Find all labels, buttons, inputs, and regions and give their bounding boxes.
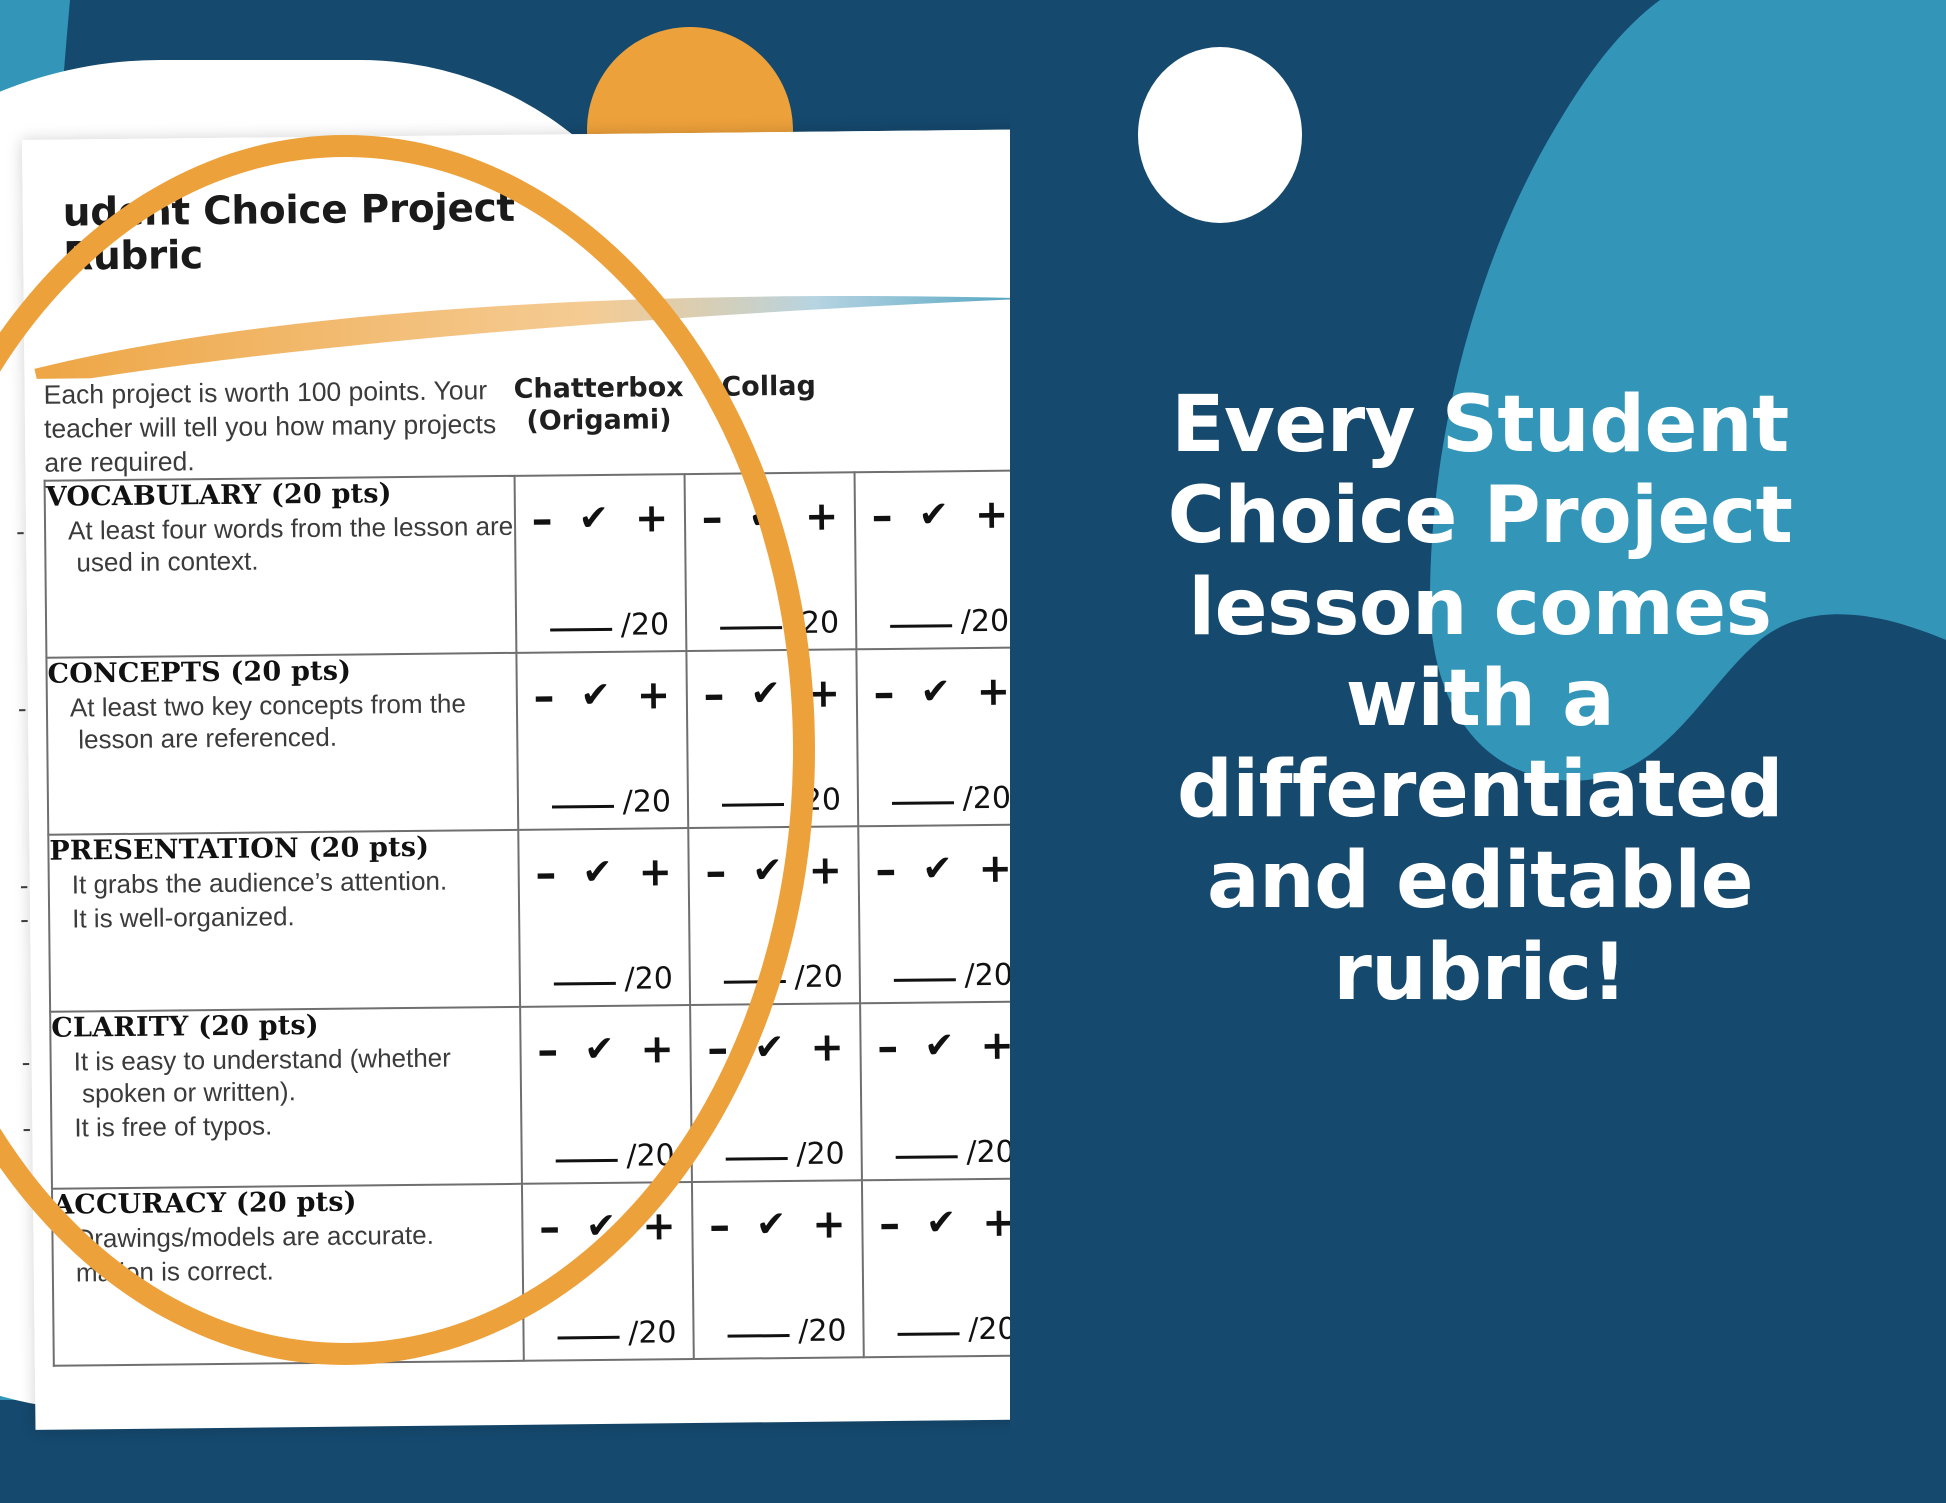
score-underline[interactable] (892, 802, 954, 806)
headline-line-2: Choice Project (1040, 471, 1920, 562)
column-header-chatterbox-line1: Chatterbox (513, 372, 683, 405)
plus-mark[interactable]: + (805, 502, 839, 530)
criterion-title: VOCABULARY (20 pts) (46, 477, 514, 513)
criterion-title: CLARITY (20 pts) (51, 1008, 519, 1044)
score-blank[interactable]: /20 (727, 1314, 847, 1350)
plus-mark[interactable]: + (980, 1031, 1010, 1059)
table-row: CONCEPTS (20 pts) -At least two key conc… (46, 648, 1010, 835)
score-cell-accuracy-collage[interactable]: – ✔ + /20 (692, 1181, 864, 1360)
bullet-dash: - (46, 516, 68, 548)
score-cell-concepts-collage[interactable]: – ✔ + /20 (686, 650, 858, 829)
list-item: -At least four words from the lesson are… (46, 511, 515, 579)
promo-headline: Every Student Choice Project lesson come… (1040, 380, 1920, 1019)
headline-line-4: with a (1040, 654, 1920, 745)
criterion-bullets: -At least two key concepts from the less… (48, 688, 517, 756)
rubric-document: udent Choice Project Rubric Each project… (22, 129, 1010, 1367)
score-underline[interactable] (727, 1334, 789, 1338)
score-suffix: /20 (792, 783, 841, 819)
criterion-bullets: -At least four words from the lesson are… (46, 511, 515, 579)
score-blank[interactable]: /20 (725, 1137, 845, 1173)
column-header-chatterbox: Chatterbox (Origami) (513, 372, 684, 476)
score-cell-presentation-collage[interactable]: – ✔ + /20 (688, 827, 860, 1006)
plus-mark[interactable]: + (638, 858, 672, 886)
check-mark[interactable]: ✔ (578, 498, 609, 539)
score-blank[interactable]: /20 (895, 1135, 1010, 1171)
bullet-dash: - (50, 870, 72, 902)
score-underline[interactable] (897, 1333, 959, 1337)
score-underline[interactable] (894, 979, 956, 983)
score-blank[interactable]: /20 (893, 958, 1010, 994)
check-mark[interactable]: ✔ (748, 496, 779, 537)
score-underline[interactable] (895, 1156, 957, 1160)
column-header-collage: Collag (683, 371, 854, 475)
minus-mark[interactable]: – (532, 507, 553, 532)
score-blank[interactable]: /20 (557, 1315, 677, 1351)
rating-marks[interactable]: – ✔ + (693, 1182, 862, 1247)
document-title-line-1: udent Choice Project (63, 186, 515, 236)
rating-marks[interactable]: – ✔ + (523, 1183, 692, 1248)
check-mark[interactable]: ✔ (580, 675, 611, 716)
plus-mark[interactable]: + (807, 679, 841, 707)
plus-mark[interactable]: + (637, 681, 671, 709)
minus-mark[interactable]: – (539, 1215, 560, 1240)
rating-marks[interactable]: – ✔ + (856, 472, 1010, 537)
column-header-third (853, 369, 1010, 473)
criterion-title: CONCEPTS (20 pts) (47, 654, 515, 690)
rating-marks[interactable]: – ✔ + (689, 828, 858, 893)
score-cell-accuracy-third[interactable]: – ✔ + /20 (862, 1179, 1010, 1358)
minus-mark[interactable]: – (875, 857, 896, 882)
minus-mark[interactable]: – (872, 503, 893, 528)
check-mark[interactable]: ✔ (756, 1204, 787, 1245)
criterion-title: PRESENTATION (20 pts) (49, 831, 517, 867)
minus-mark[interactable]: – (702, 505, 723, 530)
title-swoosh (24, 273, 1010, 380)
list-item: -It is well-organized. (50, 899, 518, 936)
score-cell-vocabulary-chatterbox[interactable]: – ✔ + /20 (515, 474, 687, 653)
score-suffix: /20 (962, 781, 1010, 817)
rating-marks[interactable]: – ✔ + (691, 1005, 860, 1070)
minus-mark[interactable]: – (533, 684, 554, 709)
headline-line-3: lesson comes (1040, 563, 1920, 654)
score-cell-clarity-third[interactable]: – ✔ + /20 (860, 1002, 1010, 1181)
headline-line-6: and editable (1040, 836, 1920, 927)
criterion-cell-concepts: CONCEPTS (20 pts) -At least two key conc… (46, 653, 518, 835)
bullet-dash: - (48, 693, 70, 725)
score-blank[interactable]: /20 (891, 781, 1010, 817)
plus-mark[interactable]: + (642, 1212, 676, 1240)
plus-mark[interactable]: + (978, 854, 1010, 882)
plus-mark[interactable]: + (640, 1035, 674, 1063)
bullet-text: mation is correct. (76, 1255, 274, 1287)
rating-marks[interactable]: – ✔ + (686, 474, 855, 539)
score-suffix: /20 (798, 1314, 847, 1350)
headline-line-5: differentiated (1040, 745, 1920, 836)
rating-marks[interactable]: – ✔ + (516, 475, 685, 540)
score-suffix: /20 (626, 1138, 675, 1174)
check-mark[interactable]: ✔ (584, 1029, 615, 1070)
bullet-text: At least two key concepts from the lesso… (70, 689, 466, 755)
document-stage: udent Choice Project Rubric Each project… (0, 0, 1010, 1503)
criterion-cell-vocabulary: VOCABULARY (20 pts) -At least four words… (45, 476, 517, 658)
score-suffix: /20 (794, 960, 843, 996)
score-cell-clarity-chatterbox[interactable]: – ✔ + /20 (520, 1005, 692, 1184)
score-suffix: /20 (791, 606, 840, 642)
score-cell-vocabulary-third[interactable]: – ✔ + /20 (855, 471, 1010, 650)
rating-marks[interactable]: – ✔ + (519, 829, 688, 894)
score-cell-presentation-chatterbox[interactable]: – ✔ + /20 (518, 828, 690, 1007)
rubric-table: Each project is worth 100 points. Your t… (43, 369, 1010, 1367)
score-blank[interactable]: /20 (723, 960, 843, 996)
check-mark[interactable]: ✔ (926, 1203, 957, 1244)
score-underline[interactable] (890, 625, 952, 629)
plus-mark[interactable]: + (977, 677, 1010, 705)
bullet-dash: - (50, 904, 72, 936)
score-underline[interactable] (724, 980, 786, 984)
score-underline[interactable] (722, 803, 784, 807)
score-cell-presentation-third[interactable]: – ✔ + /20 (858, 825, 1010, 1004)
criterion-bullets: Drawings/models are accurate. mation is … (53, 1219, 522, 1289)
score-suffix: /20 (966, 1135, 1010, 1171)
score-suffix: /20 (621, 608, 670, 644)
score-blank[interactable]: /20 (553, 961, 673, 997)
score-blank[interactable]: /20 (552, 785, 672, 821)
headline-line-7: rubric! (1040, 928, 1920, 1019)
check-mark[interactable]: ✔ (750, 673, 781, 714)
check-mark[interactable]: ✔ (752, 850, 783, 891)
check-mark[interactable]: ✔ (582, 852, 613, 893)
score-suffix: /20 (628, 1315, 677, 1351)
score-suffix: /20 (623, 785, 672, 821)
list-item: -At least two key concepts from the less… (48, 688, 517, 756)
bullet-text: It grabs the audience’s attention. (72, 866, 448, 900)
rating-marks[interactable]: – ✔ + (859, 826, 1010, 891)
score-cell-accuracy-chatterbox[interactable]: – ✔ + /20 (522, 1182, 694, 1361)
score-underline[interactable] (555, 1159, 617, 1163)
rating-marks[interactable]: – ✔ + (857, 649, 1010, 714)
minus-mark[interactable]: – (709, 1213, 730, 1238)
minus-mark[interactable]: – (535, 861, 556, 886)
score-blank[interactable]: /20 (890, 604, 1010, 640)
check-mark[interactable]: ✔ (754, 1027, 785, 1068)
minus-mark[interactable]: – (707, 1036, 728, 1061)
rating-marks[interactable]: – ✔ + (517, 652, 686, 717)
score-underline[interactable] (550, 628, 612, 632)
criterion-bullets: -It grabs the audience’s attention. -It … (50, 865, 519, 935)
criterion-bullets: -It is easy to understand (whether spoke… (51, 1042, 520, 1144)
score-cell-concepts-third[interactable]: – ✔ + /20 (856, 648, 1010, 827)
score-underline[interactable] (554, 982, 616, 986)
score-underline[interactable] (720, 626, 782, 630)
column-header-collage-line1: Collag (721, 371, 816, 403)
minus-mark[interactable]: – (877, 1034, 898, 1059)
document-title: udent Choice Project Rubric (22, 129, 1010, 279)
score-blank[interactable]: /20 (720, 606, 840, 642)
rubric-intro-text: Each project is worth 100 points. Your t… (44, 374, 515, 481)
document-title-line-2: Rubric (63, 233, 203, 279)
score-blank[interactable]: /20 (897, 1312, 1010, 1348)
bullet-text: It is well-organized. (72, 901, 295, 933)
score-suffix: /20 (624, 961, 673, 997)
plus-mark[interactable]: + (635, 504, 669, 532)
criterion-cell-clarity: CLARITY (20 pts) -It is easy to understa… (50, 1007, 522, 1189)
rating-marks[interactable]: – ✔ + (863, 1180, 1010, 1245)
minus-mark[interactable]: – (537, 1038, 558, 1063)
rating-marks[interactable]: – ✔ + (687, 651, 856, 716)
bullet-text: It is free of typos. (74, 1110, 272, 1142)
plus-mark[interactable]: + (810, 1033, 844, 1061)
bullet-dash: - (51, 1047, 73, 1079)
score-suffix: /20 (964, 958, 1010, 994)
bullet-dash: - (52, 1112, 74, 1144)
bullet-text: Drawings/models are accurate. (75, 1220, 434, 1254)
score-underline[interactable] (557, 1336, 619, 1340)
rubric-header-row: Each project is worth 100 points. Your t… (44, 369, 1010, 481)
list-item: -It is free of typos. (52, 1108, 520, 1145)
list-item: -It is easy to understand (whether spoke… (51, 1042, 520, 1110)
criterion-title: ACCURACY (20 pts) (53, 1185, 521, 1221)
white-dot (1138, 47, 1302, 223)
column-header-chatterbox-line2: (Origami) (526, 404, 671, 437)
score-cell-vocabulary-collage[interactable]: – ✔ + /20 (685, 473, 857, 652)
headline-line-1: Every Student (1040, 380, 1920, 471)
minus-mark[interactable]: – (873, 680, 894, 705)
score-blank[interactable]: /20 (555, 1138, 675, 1174)
rating-marks[interactable]: – ✔ + (861, 1003, 1010, 1068)
minus-mark[interactable]: – (705, 859, 726, 884)
list-item: Drawings/models are accurate. (53, 1219, 521, 1256)
score-blank[interactable]: /20 (550, 608, 670, 644)
score-cell-concepts-chatterbox[interactable]: – ✔ + /20 (516, 651, 688, 830)
score-underline[interactable] (552, 805, 614, 809)
table-row: ACCURACY (20 pts) Drawings/models are ac… (52, 1179, 1010, 1366)
rating-marks[interactable]: – ✔ + (521, 1006, 690, 1071)
plus-mark[interactable]: + (982, 1208, 1010, 1236)
score-cell-clarity-collage[interactable]: – ✔ + /20 (690, 1004, 862, 1183)
check-mark[interactable]: ✔ (922, 849, 953, 890)
plus-mark[interactable]: + (812, 1210, 846, 1238)
score-suffix: /20 (961, 604, 1010, 640)
bullet-text: It is easy to understand (whether spoken… (73, 1043, 450, 1109)
score-suffix: /20 (968, 1312, 1010, 1348)
check-mark[interactable]: ✔ (586, 1206, 617, 1247)
minus-mark[interactable]: – (703, 682, 724, 707)
criterion-cell-accuracy: ACCURACY (20 pts) Drawings/models are ac… (52, 1184, 524, 1366)
check-mark[interactable]: ✔ (924, 1026, 955, 1067)
table-row: PRESENTATION (20 pts) -It grabs the audi… (48, 825, 1010, 1012)
list-item: mation is correct. (54, 1253, 522, 1290)
score-blank[interactable]: /20 (722, 783, 842, 819)
table-row: VOCABULARY (20 pts) -At least four words… (45, 471, 1010, 658)
plus-mark[interactable]: + (975, 500, 1009, 528)
plus-mark[interactable]: + (808, 856, 842, 884)
list-item: -It grabs the audience’s attention. (50, 865, 518, 902)
score-underline[interactable] (725, 1157, 787, 1161)
check-mark[interactable]: ✔ (918, 495, 949, 536)
criterion-cell-presentation: PRESENTATION (20 pts) -It grabs the audi… (48, 830, 520, 1012)
bullet-text: At least four words from the lesson are … (68, 511, 513, 577)
table-row: CLARITY (20 pts) -It is easy to understa… (50, 1002, 1010, 1189)
minus-mark[interactable]: – (879, 1211, 900, 1236)
score-suffix: /20 (796, 1137, 845, 1173)
check-mark[interactable]: ✔ (920, 672, 951, 713)
